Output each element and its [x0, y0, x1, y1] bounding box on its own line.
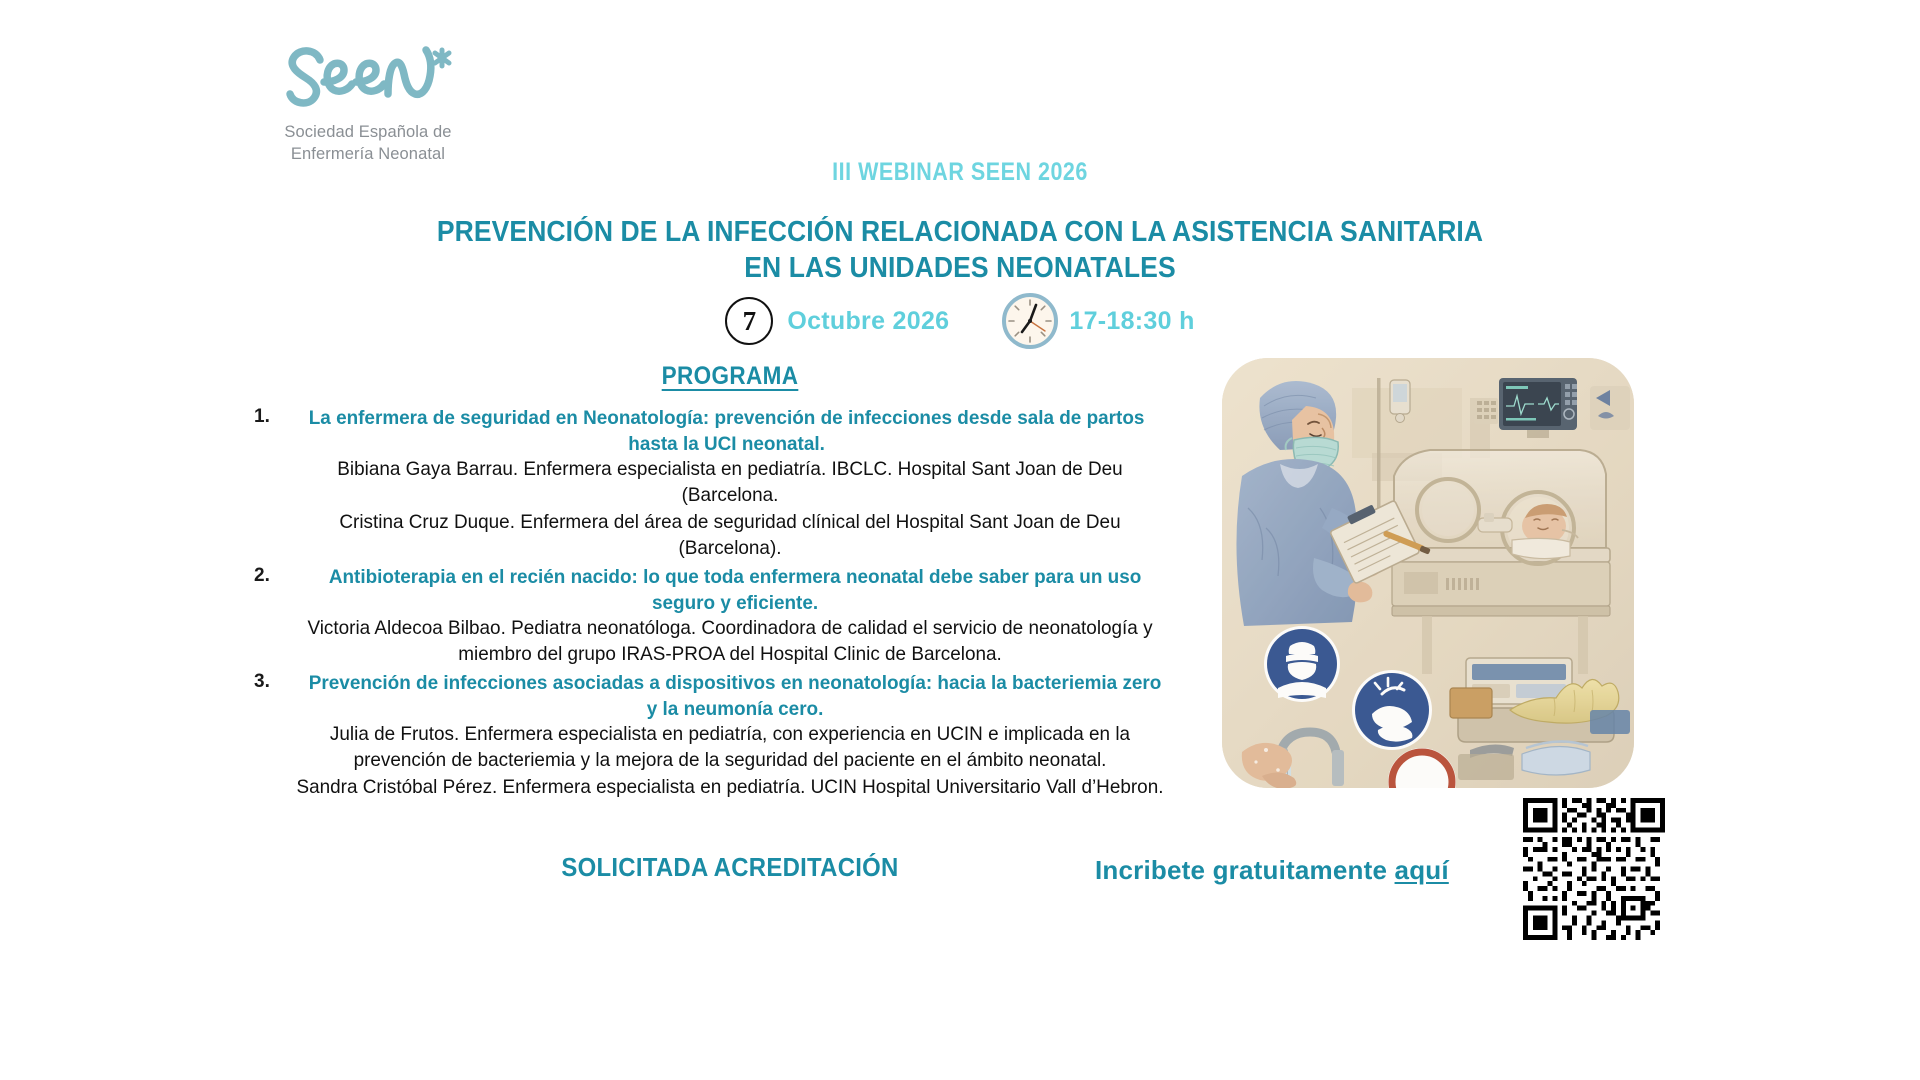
- program-item-speaker: Cristina Cruz Duque. Enfermera del área …: [294, 510, 1167, 562]
- register-link[interactable]: aquí: [1395, 855, 1449, 885]
- qr-code-icon[interactable]: [1523, 798, 1665, 940]
- neonatal-icu-illustration: [1222, 358, 1634, 788]
- program-item: 3. Prevención de infecciones asociadas a…: [280, 670, 1180, 801]
- program-item-number: 1.: [254, 405, 270, 428]
- page-title: PREVENCIÓN DE LA INFECCIÓN RELACIONADA C…: [402, 214, 1518, 287]
- event-date: 7 Octubre 2026: [725, 297, 949, 345]
- program-item-number: 3.: [254, 670, 270, 693]
- clock-icon: [1001, 292, 1059, 350]
- day-number-badge: 7: [725, 297, 773, 345]
- program-item-speaker: Sandra Cristóbal Pérez. Enfermera especi…: [294, 775, 1167, 801]
- neonatal-icu-illustration-art: [1222, 358, 1634, 788]
- webinar-kicker: III WEBINAR SEEN 2026: [134, 158, 1785, 187]
- page-title-line-2: EN LAS UNIDADES NEONATALES: [402, 250, 1518, 286]
- webinar-poster: Sociedad Española de Enfermería Neonatal…: [0, 0, 1920, 1080]
- program-item-number: 2.: [254, 564, 270, 587]
- program-section: PROGRAMA 1. La enfermera de seguridad en…: [280, 362, 1180, 803]
- program-item-speaker: Victoria Aldecoa Bilbao. Pediatra neonat…: [294, 616, 1167, 668]
- program-heading: PROGRAMA: [325, 362, 1135, 391]
- program-item-title: Antibioterapia en el recién nacido: lo q…: [303, 564, 1166, 616]
- register-cta[interactable]: Incribete gratuitamente aquí: [1095, 855, 1449, 886]
- seen-wordmark-icon: [278, 38, 458, 116]
- qr-code-matrix: [1523, 798, 1665, 940]
- event-date-label: Octubre 2026: [787, 307, 949, 336]
- program-item: 1. La enfermera de seguridad en Neonatol…: [280, 405, 1180, 562]
- program-item-speaker: Julia de Frutos. Enfermera especialista …: [294, 722, 1167, 774]
- program-item-title: La enfermera de seguridad en Neonatologí…: [286, 405, 1166, 457]
- program-item-speaker: Bibiana Gaya Barrau. Enfermera especiali…: [294, 457, 1167, 509]
- register-cta-label: Incribete gratuitamente: [1095, 855, 1395, 885]
- event-time: 17-18:30 h: [1001, 292, 1194, 350]
- accreditation-note: SOLICITADA ACREDITACIÓN: [316, 852, 1144, 883]
- page-title-line-1: PREVENCIÓN DE LA INFECCIÓN RELACIONADA C…: [402, 214, 1518, 250]
- seen-logo: Sociedad Española de Enfermería Neonatal: [258, 38, 478, 166]
- program-item: 2. Antibioterapia en el recién nacido: l…: [280, 564, 1180, 668]
- event-time-label: 17-18:30 h: [1069, 307, 1194, 336]
- program-item-title: Prevención de infecciones asociadas a di…: [303, 670, 1166, 722]
- event-datetime: 7 Octubre 2026: [360, 292, 1560, 350]
